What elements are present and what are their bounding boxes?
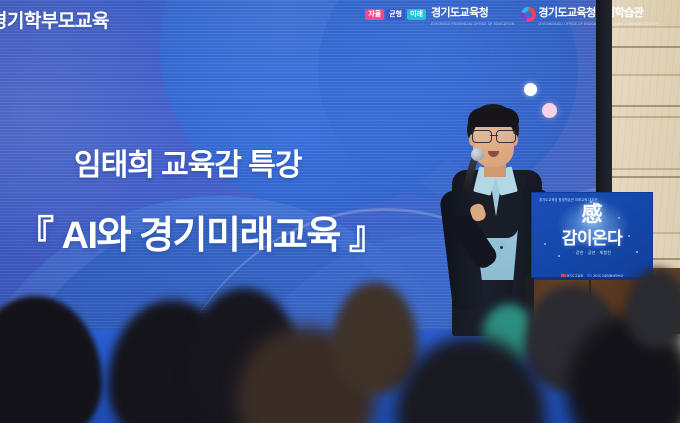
decorative-white-dot	[524, 83, 537, 96]
screen-lower-fill	[0, 330, 596, 423]
podium-wood-body	[534, 280, 648, 332]
speaker-hair-front	[468, 108, 519, 127]
logo-chip-2: 균형	[386, 9, 405, 20]
logo-text-office: 경기도교육청	[431, 7, 488, 19]
podium-sign-board: 경기도교육청 평생학습관 미래교육 대강연 感 감이온다 · 강연 · 공연 ·…	[531, 192, 653, 282]
lecture-title-line-1: 임태희 교육감 특강	[74, 140, 301, 184]
lecture-title-line-2: 『 AI와 경기미래교육 』	[16, 204, 385, 259]
podium-sign-meta: · 강연 · 공연 · 체험전	[532, 250, 652, 256]
logo-gyeonggi-office-of-education: 자율 균형 미래 경기도교육청 GYEONGGI PROVINCIAL OFFI…	[365, 3, 514, 26]
logo-chip-3: 미래	[407, 9, 426, 20]
speaker-jacket-button	[500, 246, 503, 249]
podium-sign-headline: 감이온다	[532, 229, 652, 248]
photo-scene: 경기학부모교육 자율 균형 미래 경기도교육청 GYEONGGI PROVINC…	[0, 0, 680, 423]
logo-text-center: 경기도교육청평생학습관	[538, 7, 643, 19]
podium-side-panel	[525, 278, 534, 332]
podium-sign-hanja: 感	[532, 204, 652, 225]
podium-sign-top-text: 경기도교육청 평생학습관 미래교육 대강연	[539, 197, 598, 202]
microphone-head	[471, 148, 484, 161]
screen-logo-row: 자율 균형 미래 경기도교육청 GYEONGGI PROVINCIAL OFFI…	[365, 3, 658, 26]
podium: 경기도교육청 평생학습관 미래교육 대강연 感 감이온다 · 강연 · 공연 ·…	[531, 192, 657, 332]
ring-icon	[521, 7, 536, 22]
logo-gyeonggi-lifelong-learning-center: 경기도교육청평생학습관 GYEONGGIDO OFFICE OF EDUCATI…	[521, 3, 658, 26]
glasses-icon	[472, 130, 516, 142]
logo-chip-1: 자율	[365, 9, 384, 20]
screen-header-left-label: 경기학부모교육	[0, 6, 109, 33]
logo-subtext-office: GYEONGGI PROVINCIAL OFFICE OF EDUCATION	[431, 22, 514, 26]
